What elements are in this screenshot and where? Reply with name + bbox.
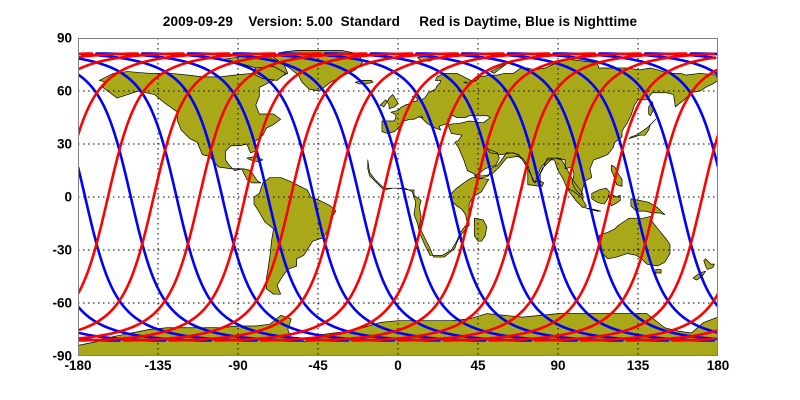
x-tick-label: 135	[608, 358, 668, 373]
plot-area	[78, 38, 718, 356]
y-axis: 9060300-30-60-90	[30, 38, 72, 356]
chart-title: 2009-09-29 Version: 5.00 Standard Red is…	[0, 14, 800, 29]
x-tick-label: 90	[528, 358, 588, 373]
ground-track-map: 2009-09-29 Version: 5.00 Standard Red is…	[0, 0, 800, 400]
y-tick-label: 90	[32, 31, 72, 46]
x-tick-label: 0	[368, 358, 428, 373]
x-tick-label: -135	[128, 358, 188, 373]
orbit-tracks	[78, 38, 718, 356]
x-tick-label: -90	[208, 358, 268, 373]
x-axis: -180-135-90-4504590135180	[78, 358, 718, 378]
x-tick-label: -45	[288, 358, 348, 373]
y-tick-label: 0	[32, 190, 72, 205]
y-tick-label: -60	[32, 296, 72, 311]
y-tick-label: 30	[32, 137, 72, 152]
x-tick-label: 45	[448, 358, 508, 373]
x-tick-label: -180	[48, 358, 108, 373]
y-tick-label: -30	[32, 243, 72, 258]
x-tick-label: 180	[688, 358, 748, 373]
y-tick-label: 60	[32, 84, 72, 99]
